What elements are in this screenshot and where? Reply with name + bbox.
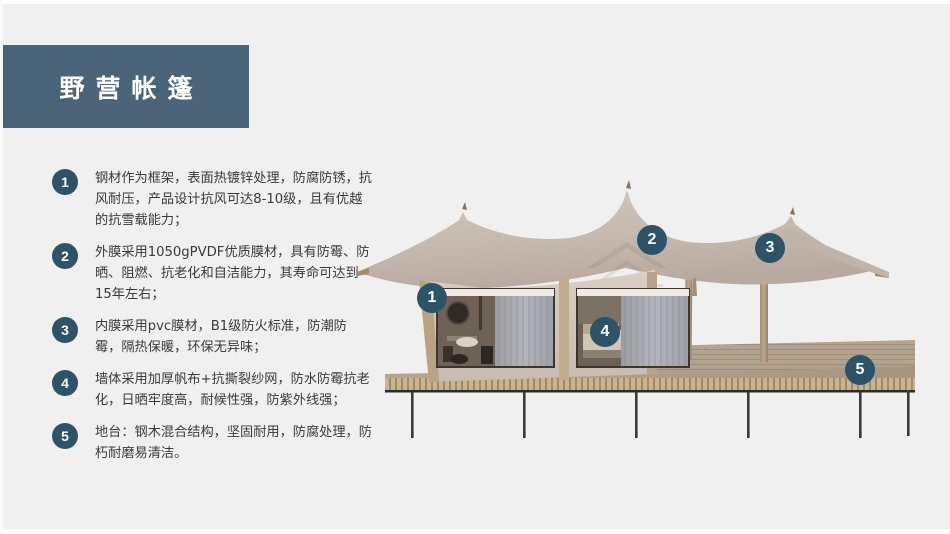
window-header-right: [577, 289, 689, 296]
feature-text: 墙体采用加厚帆布+抗撕裂纱网，防水防霉抗老化，日晒牢度高，耐候性强，防紫外线强；: [95, 369, 372, 411]
feature-number-badge: 5: [52, 423, 78, 449]
slide-canvas: 野营帐篷 1 钢材作为框架，表面热镀锌处理，防腐防锈，抗风耐压，产品设计抗风可达…: [0, 0, 950, 534]
feature-number-badge: 4: [52, 370, 78, 396]
list-item: 1 钢材作为框架，表面热镀锌处理，防腐防锈，抗风耐压，产品设计抗风可达8-10级…: [52, 168, 372, 231]
tent-photo: 1 2 3 4 5: [355, 150, 950, 470]
list-item: 5 地台：钢木混合结构，坚固耐用，防腐处理，防朽耐磨易清洁。: [52, 422, 372, 464]
deck-leg: [859, 392, 862, 438]
deck-leg: [523, 392, 526, 438]
deck-leg: [411, 392, 414, 438]
feature-text: 钢材作为框架，表面热镀锌处理，防腐防锈，抗风耐压，产品设计抗风可达8-10级，且…: [95, 168, 372, 231]
slide-top-edge: [0, 0, 950, 4]
list-item: 3 内膜采用pvc膜材，B1级防火标准，防潮防霉，隔热保暖，环保无异味；: [52, 316, 372, 358]
feature-text: 内膜采用pvc膜材，B1级防火标准，防潮防霉，隔热保暖，环保无异味；: [95, 316, 372, 358]
canopy-peak-tip: [626, 180, 631, 189]
list-item: 4 墙体采用加厚帆布+抗撕裂纱网，防水防霉抗老化，日晒牢度高，耐候性强，防紫外线…: [52, 369, 372, 411]
list-item: 2 外膜采用1050gPVDF优质膜材，具有防霉、防晒、阻燃、抗老化和自洁能力，…: [52, 242, 372, 305]
feature-number-badge: 1: [52, 169, 78, 195]
canopy-peak-tip: [790, 207, 795, 215]
photo-marker-5[interactable]: 5: [845, 355, 875, 385]
photo-marker-1[interactable]: 1: [417, 283, 447, 313]
canopy-peak-tip: [462, 202, 467, 210]
feature-text: 地台：钢木混合结构，坚固耐用，防腐处理，防朽耐磨易清洁。: [95, 422, 372, 464]
title-banner: 野营帐篷: [3, 45, 249, 128]
deck-leg: [907, 390, 910, 436]
feature-text: 外膜采用1050gPVDF优质膜材，具有防霉、防晒、阻燃、抗老化和自洁能力，其寿…: [95, 242, 372, 305]
photo-marker-2[interactable]: 2: [637, 225, 667, 255]
deck-edge-line: [385, 390, 915, 393]
deck-leg: [747, 392, 750, 438]
page-title: 野营帐篷: [48, 69, 203, 105]
steel-frame-post: [559, 278, 569, 380]
feature-list: 1 钢材作为框架，表面热镀锌处理，防腐防锈，抗风耐压，产品设计抗风可达8-10级…: [52, 168, 372, 475]
window-header-left: [437, 289, 554, 296]
photo-marker-3[interactable]: 3: [755, 233, 785, 263]
slide-bottom-edge: [0, 529, 950, 534]
deck-leg: [635, 392, 638, 438]
feature-number-badge: 2: [52, 243, 78, 269]
window-left: [437, 289, 554, 367]
photo-marker-4[interactable]: 4: [590, 317, 620, 347]
feature-number-badge: 3: [52, 317, 78, 343]
